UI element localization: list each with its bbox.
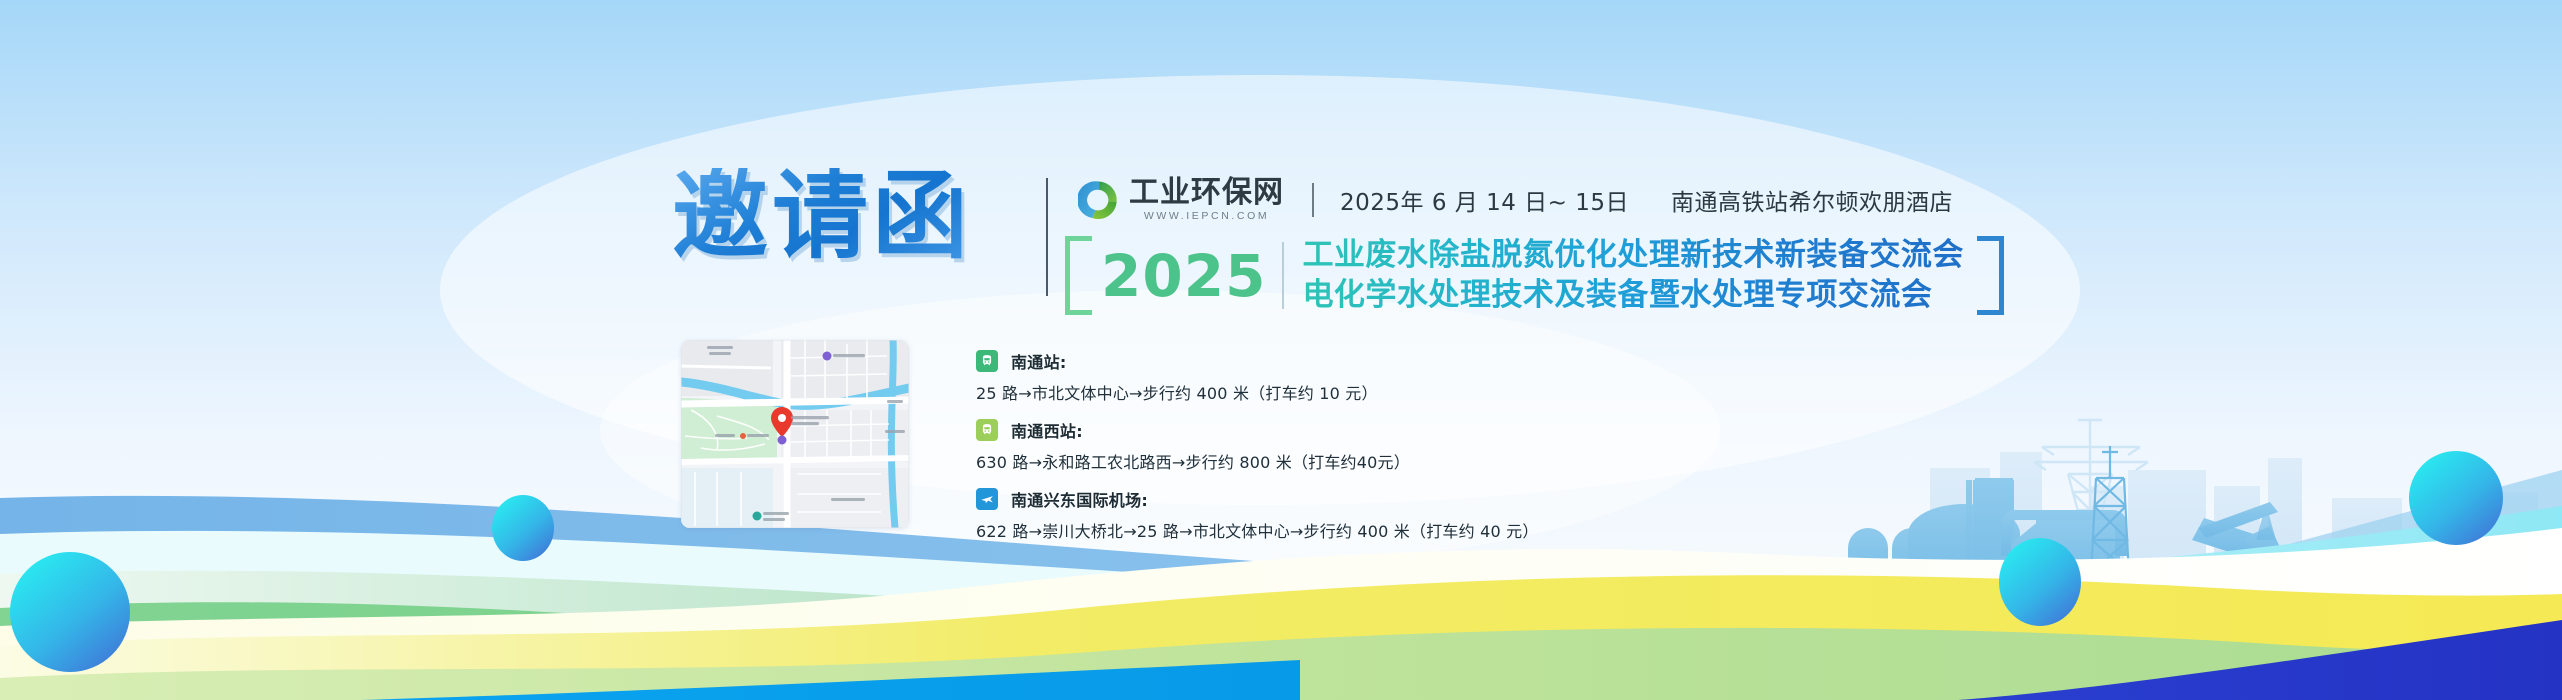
transit-item: 南通兴东国际机场: 622 路→崇川大桥北→25 路→市北文体中心→步行约 40… bbox=[976, 487, 1539, 542]
transit-station-name: 南通站: bbox=[1011, 349, 1067, 373]
title-divider bbox=[1046, 178, 1048, 296]
transit-route: 630 路→永和路工农北路西→步行约 800 米（打车约40元） bbox=[976, 449, 1539, 473]
organizer-name: 工业环保网 bbox=[1129, 177, 1284, 209]
conference-titles: 工业废水除盐脱氮优化处理新技术新装备交流会 电化学水处理技术及装备暨水处理专项交… bbox=[1302, 236, 1964, 315]
organizer-logo-text: 工业环保网 WWW.IEPCN.COM bbox=[1129, 177, 1284, 222]
transit-item-head: 南通兴东国际机场: bbox=[976, 487, 1539, 511]
airplane-icon bbox=[976, 488, 998, 510]
organizer-logo-icon bbox=[1078, 179, 1120, 221]
transit-info-list: 南通站: 25 路→市北文体中心→步行约 400 米（打车约 10 元） 南通西… bbox=[976, 349, 1539, 542]
header-separator bbox=[1312, 183, 1314, 217]
event-year: 2025 bbox=[1087, 236, 1282, 315]
year-separator bbox=[1282, 242, 1284, 309]
transit-station-name: 南通西站: bbox=[1011, 418, 1083, 442]
conference-title-1: 工业废水除盐脱氮优化处理新技术新装备交流会 bbox=[1302, 236, 1964, 276]
transit-item: 南通站: 25 路→市北文体中心→步行约 400 米（打车约 10 元） bbox=[976, 349, 1539, 404]
organizer-url: WWW.IEPCN.COM bbox=[1129, 210, 1284, 223]
bracket-right-icon bbox=[1982, 236, 2004, 315]
conference-title-block: 2025 工业废水除盐脱氮优化处理新技术新装备交流会 电化学水处理技术及装备暨水… bbox=[1065, 236, 2004, 315]
page-title: 邀请函 bbox=[672, 168, 972, 264]
header-row: 工业环保网 WWW.IEPCN.COM 2025年 6 月 14 日~ 15日 … bbox=[1078, 176, 1953, 224]
poster-canvas: 邀请函 bbox=[0, 0, 2562, 700]
conference-title-2: 电化学水处理技术及装备暨水处理专项交流会 bbox=[1302, 276, 1964, 316]
train-icon bbox=[976, 350, 998, 372]
transit-item-head: 南通西站: bbox=[976, 418, 1539, 442]
transit-station-name: 南通兴东国际机场: bbox=[1011, 487, 1148, 511]
venue-map-graphic bbox=[681, 340, 909, 528]
transit-route: 25 路→市北文体中心→步行约 400 米（打车约 10 元） bbox=[976, 380, 1539, 404]
transit-item: 南通西站: 630 路→永和路工农北路西→步行约 800 米（打车约40元） bbox=[976, 418, 1539, 473]
transit-item-head: 南通站: bbox=[976, 349, 1539, 373]
bracket-left-icon bbox=[1065, 236, 1087, 315]
train-icon bbox=[976, 419, 998, 441]
transit-route: 622 路→崇川大桥北→25 路→市北文体中心→步行约 400 米（打车约 40… bbox=[976, 518, 1539, 542]
venue-map[interactable] bbox=[681, 340, 909, 528]
event-venue: 南通高铁站希尔顿欢朋酒店 bbox=[1671, 183, 1953, 217]
event-date: 2025年 6 月 14 日~ 15日 bbox=[1340, 183, 1629, 217]
